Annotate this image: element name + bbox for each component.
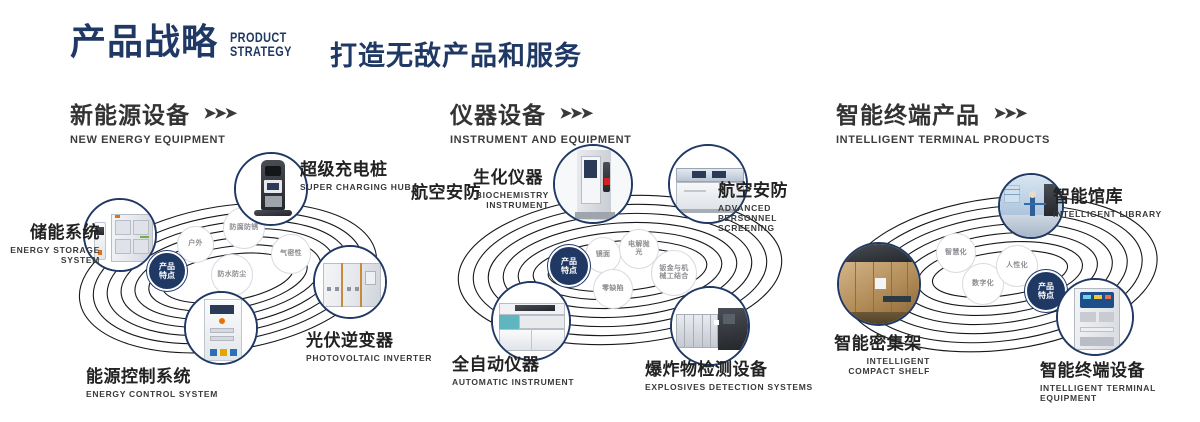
section-heading-new-energy: 新能源设备 ➤➤➤ NEW ENERGY EQUIPMENT — [70, 96, 235, 146]
self-service-kiosk-photo — [1058, 280, 1132, 354]
label-intelligent-library: 智能馆库 INTELLIGENT LIBRARY — [1053, 182, 1162, 219]
chevron-right-icon: ➤➤➤ — [993, 104, 1025, 122]
label-automatic-instrument: 全自动仪器 AUTOMATIC INSTRUMENT — [452, 350, 574, 387]
feature-bubble: 气密性 — [271, 234, 311, 274]
control-cabinet-photo — [186, 293, 256, 363]
label-explosives-detection-systems: 爆炸物检测设备 EXPLOSIVES DETECTION SYSTEMS — [645, 355, 813, 392]
feature-bubble: 镜面 — [585, 237, 621, 273]
page-title-en-line1: PRODUCT — [230, 30, 292, 44]
section-heading-en: NEW ENERGY EQUIPMENT — [70, 134, 235, 146]
section-heading-intelligent: 智能终端产品 ➤➤➤ INTELLIGENT TERMINAL PRODUCTS — [836, 96, 1050, 146]
page-title-en: PRODUCT STRATEGY — [230, 30, 292, 58]
badge-line-2: 特点 — [561, 266, 577, 275]
badge-line-2: 特点 — [1038, 291, 1054, 300]
chevron-right-icon: ➤➤➤ — [559, 104, 591, 122]
label-photovoltaic-inverter: 光伏逆变器 PHOTOVOLTAIC INVERTER — [306, 326, 432, 363]
section-heading-cn: 新能源设备 — [70, 96, 190, 130]
section-heading-en: INTELLIGENT TERMINAL PRODUCTS — [836, 134, 1050, 146]
page-subtitle: 打造无敌产品和服务 — [330, 34, 582, 73]
label-intelligent-compact-shelf: 智能密集架 INTELLIGENT COMPACT SHELF — [826, 329, 930, 376]
badge-line-1: 产品 — [1038, 282, 1054, 291]
badge-line-1: 产品 — [159, 262, 175, 271]
feature-bubble: 零缺陷 — [593, 269, 633, 309]
label-super-charging-hub: 超级充电桩 SUPER CHARGING HUB — [300, 155, 411, 192]
label-intelligent-terminal-equipment: 智能终端设备 INTELLIGENT TERMINAL EQUIPMENT — [1040, 356, 1200, 403]
label-energy-control-system: 能源控制系统 ENERGY CONTROL SYSTEM — [86, 362, 218, 399]
node-photovoltaic-inverter[interactable] — [313, 245, 387, 319]
node-automatic-instrument[interactable] — [491, 281, 571, 361]
label-biochemistry-instrument: 生化仪器 BIOCHEMISTRY INSTRUMENT — [473, 163, 549, 210]
section-heading-cn: 仪器设备 — [450, 96, 546, 130]
badge-line-1: 产品 — [561, 257, 577, 266]
page-title-cn: 产品战略 — [70, 24, 218, 60]
pv-inverter-photo — [315, 247, 385, 317]
compact-shelf-photo — [839, 244, 919, 324]
badge-line-2: 特点 — [159, 271, 175, 280]
label-energy-storage-system: 储能系统 ENERGY STORAGE SYSTEM — [0, 218, 100, 265]
chevron-right-icon: ➤➤➤ — [203, 104, 235, 122]
biochemistry-instrument-photo — [555, 146, 631, 222]
node-energy-control-system[interactable] — [184, 291, 258, 365]
page-title-block: 产品战略 PRODUCT STRATEGY — [70, 24, 309, 60]
node-intelligent-terminal-equipment[interactable] — [1056, 278, 1134, 356]
node-biochemistry-instrument[interactable] — [553, 144, 633, 224]
feature-bubble: 防水防尘 — [211, 254, 253, 296]
node-explosives-detection-systems[interactable] — [670, 286, 750, 366]
section-heading-en: INSTRUMENT AND EQUIPMENT — [450, 134, 631, 146]
section-heading-cn: 智能终端产品 — [836, 96, 980, 130]
automatic-instrument-photo — [493, 283, 569, 359]
label-aviation-security-side: 航空安防 — [411, 178, 481, 203]
explosives-detector-photo — [672, 288, 748, 364]
node-intelligent-compact-shelf[interactable] — [837, 242, 921, 326]
page-title-en-line2: STRATEGY — [230, 44, 292, 58]
charging-pile-photo — [236, 154, 306, 224]
product-features-badge: 产品 特点 — [548, 245, 590, 287]
node-super-charging-hub[interactable] — [234, 152, 308, 226]
label-advanced-personnel-screening: 航空安防 ADVANCED PERSONNEL SCREENING — [718, 176, 808, 233]
section-heading-instrument: 仪器设备 ➤➤➤ INSTRUMENT AND EQUIPMENT — [450, 96, 631, 146]
